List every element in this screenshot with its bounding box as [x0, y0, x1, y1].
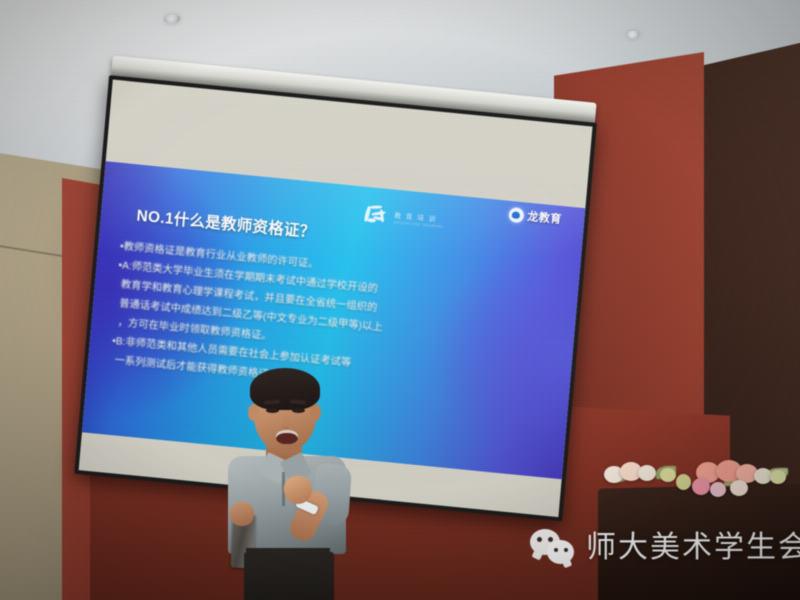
floral-arrangement [604, 452, 800, 508]
slide-secondary-logo: 教 育 培 训 EDUCATION TRAINING [363, 203, 445, 232]
dragon-circle-icon [508, 206, 524, 222]
speaker-eye [266, 408, 279, 413]
flower-blossom [660, 468, 676, 482]
speaker-hand-holding [230, 502, 254, 526]
flower-blossom [638, 465, 656, 481]
speaker-nose [282, 415, 290, 427]
ceiling-spotlight-icon [164, 14, 181, 24]
speaker-hair [250, 368, 320, 410]
speaker-mouth [276, 430, 298, 444]
slide-brand-logo: 龙教育 [508, 206, 563, 227]
wechat-icon [530, 528, 576, 568]
photograph: 龙教育 教 育 培 训 [0, 0, 800, 600]
flower-blossom [692, 478, 710, 495]
speaker-ear [248, 404, 259, 421]
slide-brand-text: 龙教育 [527, 208, 563, 227]
speaker-eye [292, 408, 305, 413]
flower-blossom [710, 482, 726, 497]
speaker-ear [310, 404, 321, 421]
speaker-person [222, 372, 354, 600]
ceiling-spotlight-icon [626, 30, 640, 39]
speaker-trousers [244, 552, 334, 600]
flower-blossom [770, 470, 786, 484]
flower-blossom [730, 480, 748, 496]
flower-blossom [676, 474, 691, 490]
slide-title: NO.1什么是教师资格证？ [136, 204, 317, 243]
wechat-watermark: 师大美术学生会 [530, 528, 800, 568]
watermark-text: 师大美术学生会 [586, 533, 800, 563]
calligraphy-seal-icon [363, 203, 391, 227]
